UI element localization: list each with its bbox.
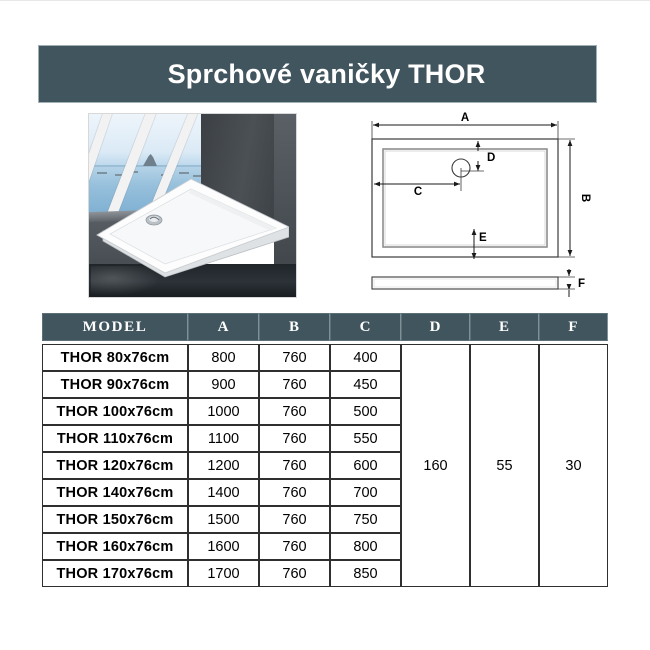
cell-c: 750 (330, 506, 401, 533)
cell-model: THOR 160x76cm (42, 533, 188, 560)
boat (179, 172, 189, 174)
cell-model: THOR 90x76cm (42, 371, 188, 398)
cell-b: 760 (259, 479, 330, 506)
specification-table: MODEL A B C D E F THOR 80x76cm 800 760 (42, 313, 608, 587)
island (143, 154, 157, 166)
cell-model: THOR 120x76cm (42, 452, 188, 479)
product-spec-page: Sprchové vaničky THOR (0, 0, 650, 650)
svg-text:C: C (414, 186, 422, 198)
page-title: Sprchové vaničky THOR (150, 59, 486, 90)
technical-drawing: A B D C E (356, 111, 610, 303)
svg-text:A: A (461, 112, 469, 124)
cell-a: 1100 (188, 425, 259, 452)
page-title-bar: Sprchové vaničky THOR (38, 45, 597, 103)
cell-model: THOR 100x76cm (42, 398, 188, 425)
product-photo (88, 113, 297, 298)
cell-b: 760 (259, 560, 330, 587)
cell-c: 450 (330, 371, 401, 398)
cell-a: 900 (188, 371, 259, 398)
cell-c: 700 (330, 479, 401, 506)
cell-model: THOR 150x76cm (42, 506, 188, 533)
cell-c: 800 (330, 533, 401, 560)
column-header-c: C (330, 313, 401, 341)
cell-a: 1500 (188, 506, 259, 533)
column-header-f: F (539, 313, 608, 341)
cell-model: THOR 140x76cm (42, 479, 188, 506)
cell-b: 760 (259, 425, 330, 452)
cell-a: 1400 (188, 479, 259, 506)
shower-tray-render (95, 177, 289, 281)
cell-f-merged: 30 (539, 344, 608, 587)
column-header-model: MODEL (42, 313, 188, 341)
photo-scene (89, 114, 296, 297)
column-header-d: D (401, 313, 470, 341)
cell-b: 760 (259, 398, 330, 425)
cell-b: 760 (259, 371, 330, 398)
column-header-e: E (470, 313, 539, 341)
table-header-row: MODEL A B C D E F (42, 313, 608, 341)
cell-a: 1200 (188, 452, 259, 479)
cell-b: 760 (259, 506, 330, 533)
cell-model: THOR 110x76cm (42, 425, 188, 452)
cell-a: 1700 (188, 560, 259, 587)
cell-c: 850 (330, 560, 401, 587)
svg-text:F: F (578, 278, 585, 290)
cell-b: 760 (259, 452, 330, 479)
cell-c: 400 (330, 344, 401, 371)
cell-model: THOR 80x76cm (42, 344, 188, 371)
cell-c: 550 (330, 425, 401, 452)
cell-a: 1000 (188, 398, 259, 425)
cell-model: THOR 170x76cm (42, 560, 188, 587)
table-row: THOR 80x76cm 800 760 400 160 55 30 (42, 344, 608, 371)
cell-c: 500 (330, 398, 401, 425)
cell-d-merged: 160 (401, 344, 470, 587)
boat (97, 172, 107, 174)
cell-b: 760 (259, 344, 330, 371)
cell-c: 600 (330, 452, 401, 479)
column-header-b: B (259, 313, 330, 341)
cell-e-merged: 55 (470, 344, 539, 587)
svg-text:D: D (487, 152, 495, 164)
svg-text:B: B (579, 194, 591, 202)
cell-b: 760 (259, 533, 330, 560)
cell-a: 800 (188, 344, 259, 371)
column-header-a: A (188, 313, 259, 341)
cell-a: 1600 (188, 533, 259, 560)
svg-text:E: E (479, 232, 487, 244)
